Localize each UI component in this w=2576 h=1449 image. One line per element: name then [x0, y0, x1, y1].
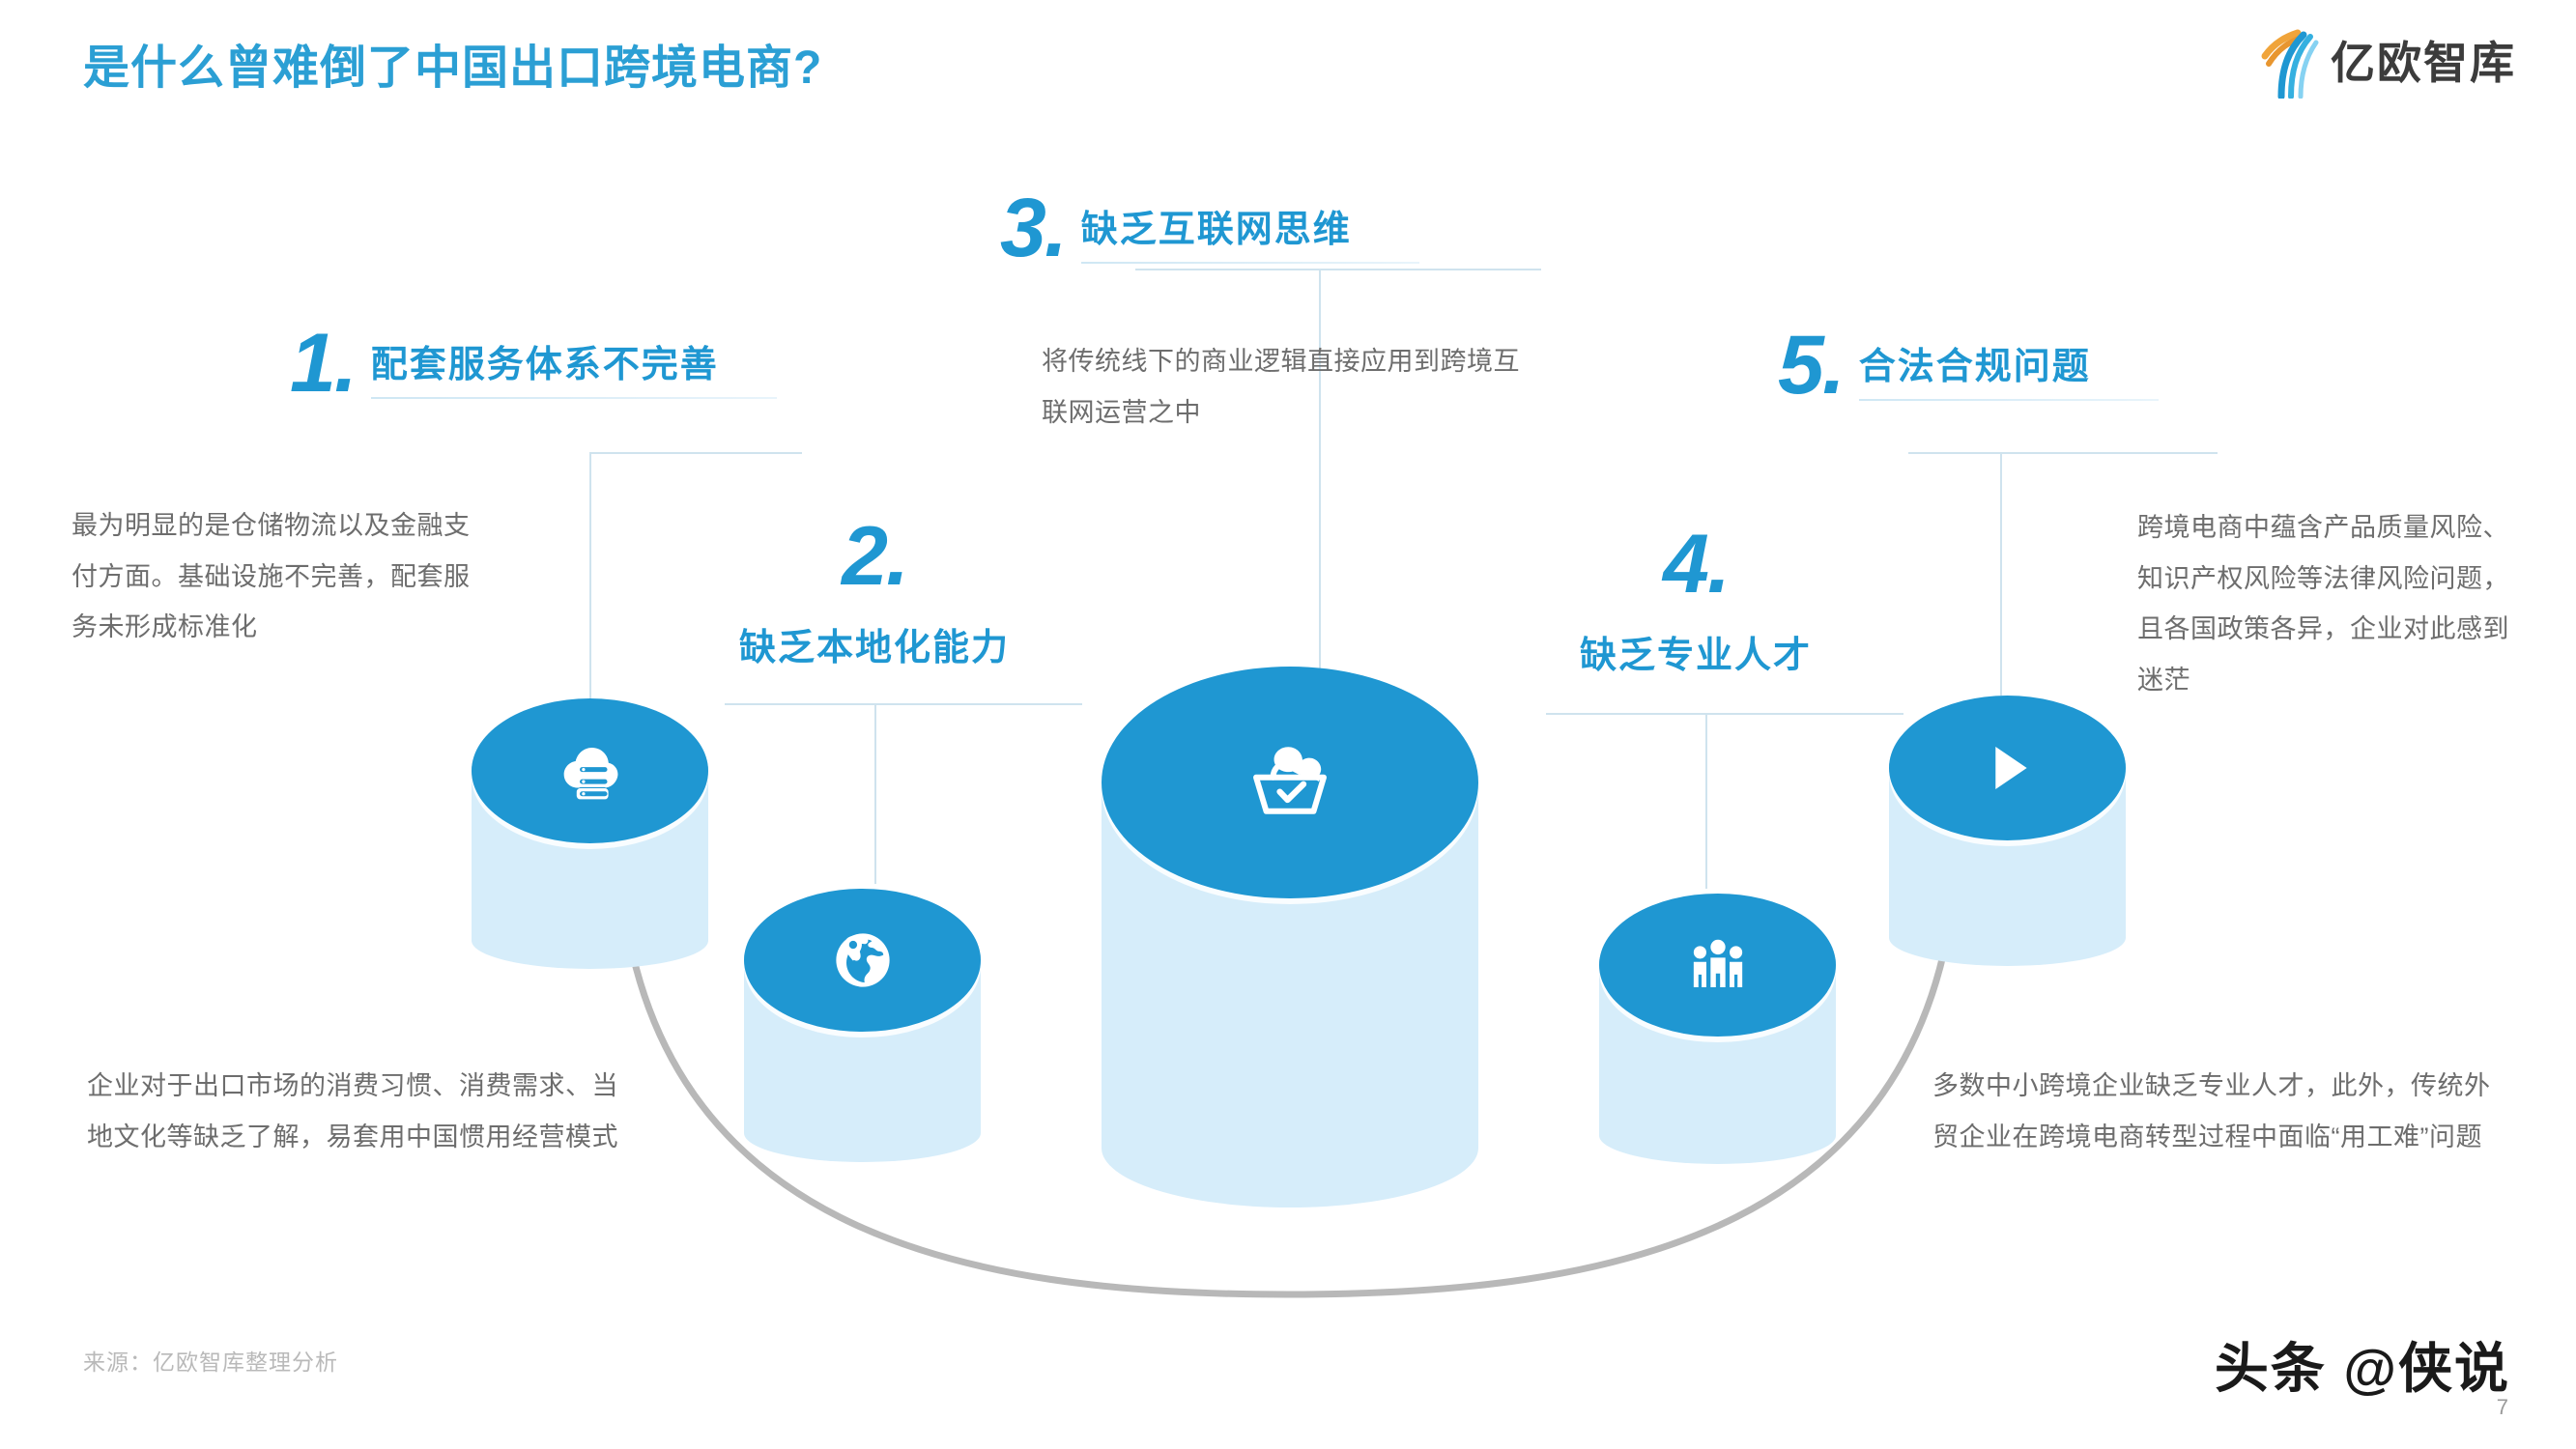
item-number-5: 5. [1778, 330, 1844, 401]
leader-line-item1 [589, 454, 591, 705]
item-title-2: 缺乏本地化能力 [725, 617, 1024, 670]
item-heading-4: 4. 缺乏专业人才 [1546, 529, 1846, 678]
cylinder-item2 [744, 889, 981, 1164]
item-heading-1: 1. 配套服务体系不完善 [290, 328, 777, 399]
slide-root: 是什么曾难倒了中国出口跨境电商? 亿欧智库 1. 配套服务体系不完善 [0, 0, 2576, 1449]
item-body-3: 将传统线下的商业逻辑直接应用到跨境互联网运营之中 [1042, 336, 1534, 438]
page-number: 7 [2497, 1395, 2508, 1420]
cylinder-top-2 [744, 889, 981, 1032]
item-title-3: 缺乏互联网思维 [1081, 199, 1419, 252]
cylinder-top-3 [1102, 667, 1478, 898]
item-number-1: 1. [290, 328, 356, 399]
cylinder-item3 [1102, 667, 1478, 1207]
item-rule-1 [371, 397, 777, 399]
item-rule-3 [1081, 262, 1419, 264]
leader-line-item2-h [725, 703, 1082, 705]
cylinder-item5 [1889, 696, 2126, 966]
cylinder-item1 [472, 698, 708, 969]
item-rule-5 [1859, 399, 2159, 401]
item-number-4: 4. [1546, 529, 1846, 600]
leader-line-item5 [2000, 454, 2002, 696]
cylinder-top-4 [1599, 894, 1836, 1037]
item-number-2: 2. [725, 522, 1024, 592]
leader-line-item4-h [1546, 713, 1903, 715]
cylinder-item4 [1599, 894, 1836, 1164]
play-arrow-icon [1972, 732, 2044, 804]
item-body-5: 跨境电商中蕴含产品质量风险、知识产权风险等法律风险问题，且各国政策各异，企业对此… [2137, 502, 2524, 706]
cylinder-top-5 [1889, 696, 2126, 840]
item-body-1: 最为明显的是仓储物流以及金融支付方面。基础设施不完善，配套服务未形成标准化 [72, 500, 477, 653]
leader-line-item2 [874, 705, 876, 884]
yiou-swoosh-logo-icon [2259, 27, 2319, 99]
item-heading-5: 5. 合法合规问题 [1778, 330, 2159, 401]
leader-line-item4 [1705, 715, 1707, 889]
item-title-1: 配套服务体系不完善 [371, 334, 777, 387]
cylinder-top-1 [472, 698, 708, 843]
leader-line-item3 [1319, 270, 1321, 686]
watermark: 头条 @侠说 [2215, 1342, 2510, 1396]
globe-location-pin-icon [830, 927, 896, 993]
leader-line-item5-h [1908, 452, 2218, 454]
item-number-3: 3. [1000, 193, 1066, 264]
leader-line-item1-h [589, 452, 802, 454]
item-title-5: 合法合规问题 [1859, 336, 2159, 389]
brand-logo: 亿欧智库 [2259, 27, 2516, 99]
source-note: 来源：亿欧智库整理分析 [83, 1344, 338, 1377]
item-body-2: 企业对于出口市场的消费习惯、消费需求、当地文化等缺乏了解，易套用中国惯用经营模式 [87, 1061, 638, 1162]
cloud-server-icon [557, 737, 624, 805]
people-team-icon [1684, 931, 1752, 999]
shopping-basket-check-icon [1236, 728, 1344, 837]
item-heading-3: 3. 缺乏互联网思维 [1000, 193, 1419, 264]
page-title: 是什么曾难倒了中国出口跨境电商? [83, 29, 822, 97]
logo-text: 亿欧智库 [2331, 41, 2516, 85]
item-heading-2: 2. 缺乏本地化能力 [725, 522, 1024, 670]
leader-line-item3-h [1135, 269, 1541, 270]
item-body-4: 多数中小跨境企业缺乏专业人才，此外，传统外贸企业在跨境电商转型过程中面临“用工难… [1932, 1061, 2512, 1162]
item-title-4: 缺乏专业人才 [1546, 625, 1846, 678]
